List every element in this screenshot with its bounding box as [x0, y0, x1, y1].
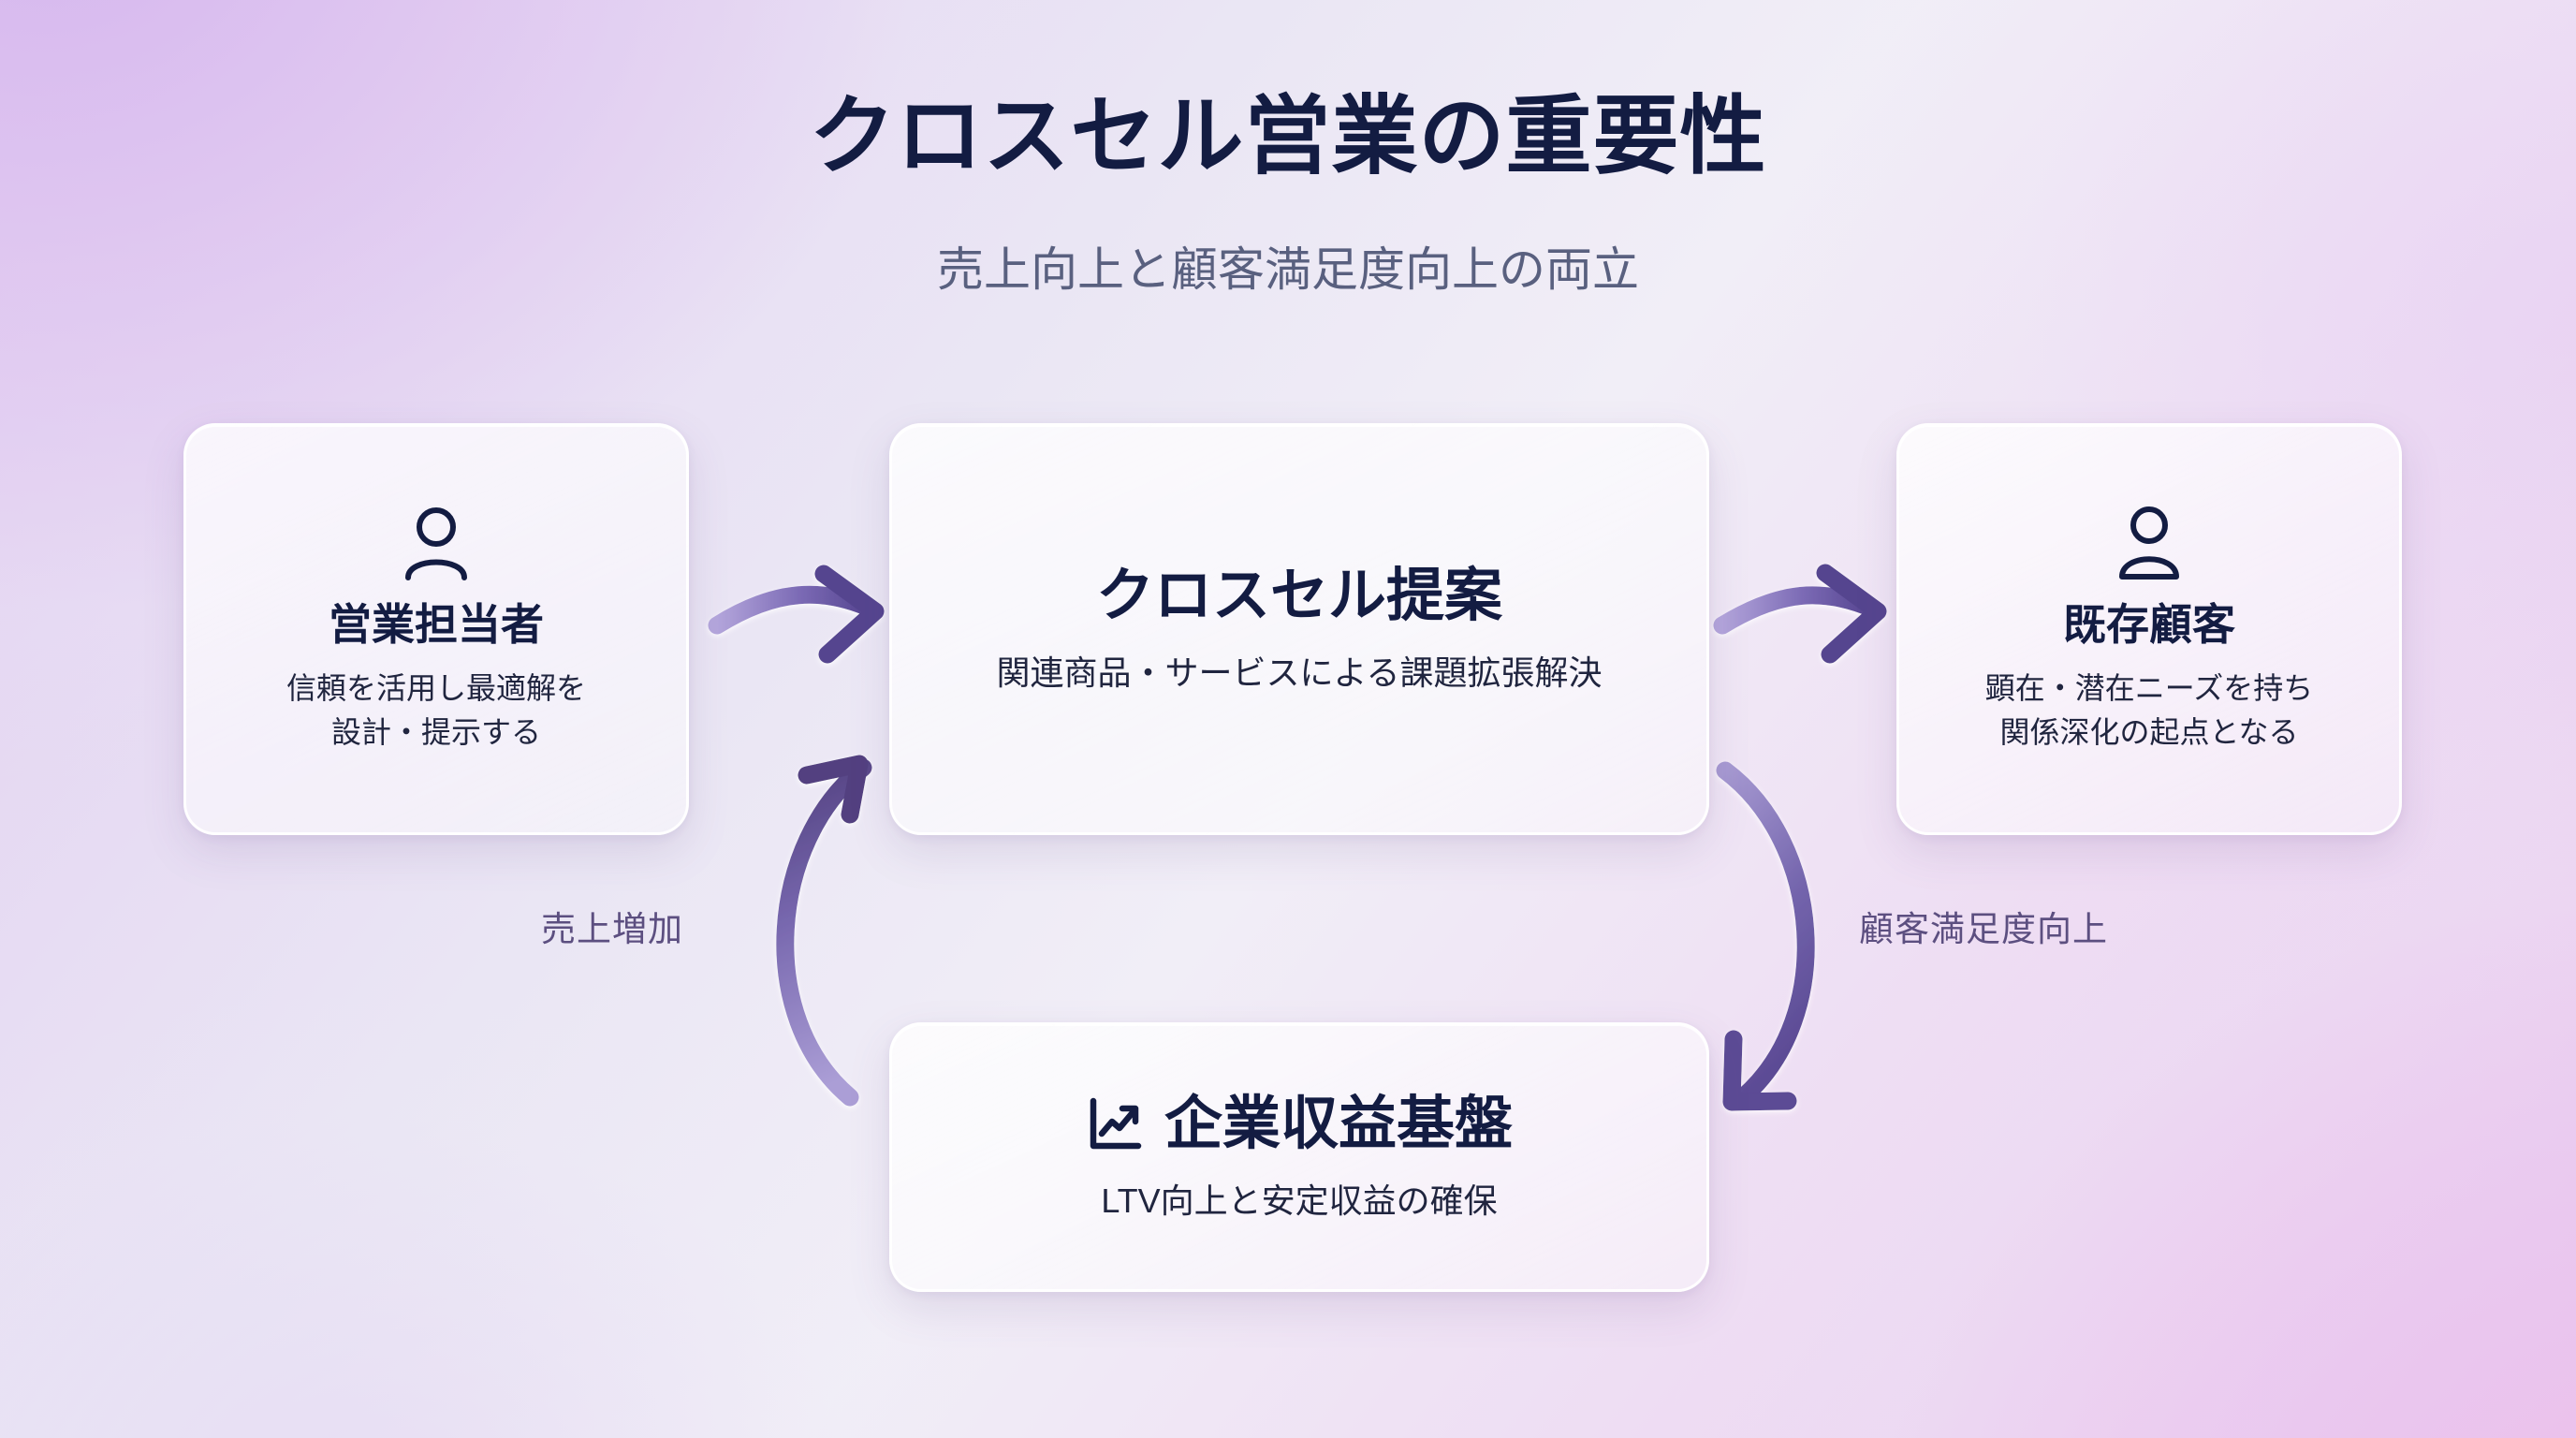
card-description-line: 信頼を活用し最適解を: [286, 667, 586, 710]
card-description: 顕在・潜在ニーズを持ち 関係深化の起点となる: [1961, 667, 2337, 754]
page-subtitle: 売上向上と顧客満足度向上の両立: [0, 242, 2576, 298]
page-title: クロスセル営業の重要性: [0, 90, 2576, 184]
card-description: 信頼を活用し最適解を 設計・提示する: [262, 667, 610, 754]
card-description: LTV向上と安定収益の確保: [1101, 1178, 1497, 1225]
card-description: 関連商品・サービスによる課題拡張解決: [997, 650, 1603, 697]
card-title: クロスセル提案: [1096, 562, 1502, 631]
card-sales-rep[interactable]: 営業担当者 信頼を活用し最適解を 設計・提示する: [183, 423, 689, 835]
card-description-line: 設計・提示する: [286, 711, 586, 754]
card-description-line: 顕在・潜在ニーズを持ち: [1985, 667, 2313, 710]
card-title: 営業担当者: [329, 598, 544, 653]
arrow-center-to-bottom: [1725, 770, 1806, 1102]
card-description-line: 関係深化の起点となる: [1985, 711, 2313, 754]
card-existing-customer[interactable]: 既存顧客 顕在・潜在ニーズを持ち 関係深化の起点となる: [1896, 423, 2402, 835]
arrow-left-to-center: [717, 574, 875, 654]
slide-canvas: クロスセル営業の重要性 売上向上と顧客満足度向上の両立: [0, 0, 2576, 1438]
arrow-center-to-right: [1722, 573, 1878, 654]
edge-label-revenue-increase: 売上増加: [541, 901, 683, 951]
card-corporate-revenue-base[interactable]: 企業収益基盤 LTV向上と安定収益の確保: [889, 1022, 1709, 1292]
card-cross-sell-proposal[interactable]: クロスセル提案 関連商品・サービスによる課題拡張解決: [889, 423, 1709, 835]
card-title: 企業収益基盤: [1164, 1090, 1513, 1159]
card-title: 既存顧客: [2063, 598, 2235, 653]
person-filled-icon: [2112, 505, 2187, 585]
chart-line-up-icon: [1086, 1095, 1144, 1153]
arrow-bottom-to-center: [785, 764, 863, 1097]
person-icon: [399, 505, 474, 585]
edge-label-customer-satisfaction: 顧客満足度向上: [1859, 901, 2108, 951]
